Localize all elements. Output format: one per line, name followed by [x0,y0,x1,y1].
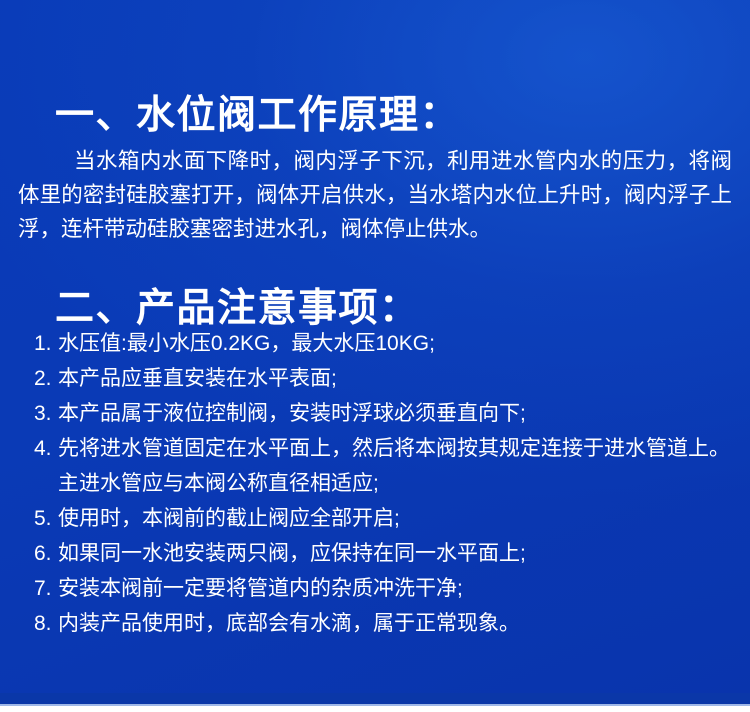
list-item-text: 使用时，本阀前的截止阀应全部开启; [58,501,734,536]
list-item-number: 4. [34,431,54,466]
list-item: 6. 如果同一水池安装两只阀，应保持在同一水平面上; [34,536,734,571]
list-item-number: 6. [34,536,54,571]
product-info-banner: 一、水位阀工作原理： 当水箱内水面下降时，阀内浮子下沉，利用进水管内水的压力，将… [0,0,750,712]
list-item-text: 先将进水管道固定在水平面上，然后将本阀按其规定连接于进水管道上。主进水管应与本阀… [58,431,734,501]
list-item-number: 8. [34,606,54,641]
list-item-number: 5. [34,501,54,536]
list-item: 4. 先将进水管道固定在水平面上，然后将本阀按其规定连接于进水管道上。主进水管应… [34,431,734,501]
working-principle-paragraph: 当水箱内水面下降时，阀内浮子下沉，利用进水管内水的压力，将阀体里的密封硅胶塞打开… [18,144,732,246]
section-heading-precautions: 二、产品注意事项： [55,287,420,331]
list-item: 5. 使用时，本阀前的截止阀应全部开启; [34,501,734,536]
list-item-number: 1. [34,326,54,361]
list-item: 3. 本产品属于液位控制阀，安装时浮球必须垂直向下; [34,396,734,431]
list-item: 7. 安装本阀前一定要将管道内的杂质冲洗干净; [34,571,734,606]
bottom-accent-band [0,693,750,704]
list-item: 1. 水压值:最小水压0.2KG，最大水压10KG; [34,326,734,361]
list-item-number: 7. [34,571,54,606]
list-item-text: 如果同一水池安装两只阀，应保持在同一水平面上; [58,536,734,571]
precautions-list: 1. 水压值:最小水压0.2KG，最大水压10KG; 2. 本产品应垂直安装在水… [34,326,734,641]
bottom-white-strip [0,706,750,712]
list-item: 2. 本产品应垂直安装在水平表面; [34,361,734,396]
list-item-text: 安装本阀前一定要将管道内的杂质冲洗干净; [58,571,734,606]
list-item-number: 2. [34,361,54,396]
section-heading-working-principle: 一、水位阀工作原理： [55,94,460,138]
list-item-text: 内装产品使用时，底部会有水滴，属于正常现象。 [58,606,734,641]
list-item-number: 3. [34,396,54,431]
list-item-text: 水压值:最小水压0.2KG，最大水压10KG; [58,326,734,361]
list-item: 8. 内装产品使用时，底部会有水滴，属于正常现象。 [34,606,734,641]
list-item-text: 本产品应垂直安装在水平表面; [58,361,734,396]
list-item-text: 本产品属于液位控制阀，安装时浮球必须垂直向下; [58,396,734,431]
